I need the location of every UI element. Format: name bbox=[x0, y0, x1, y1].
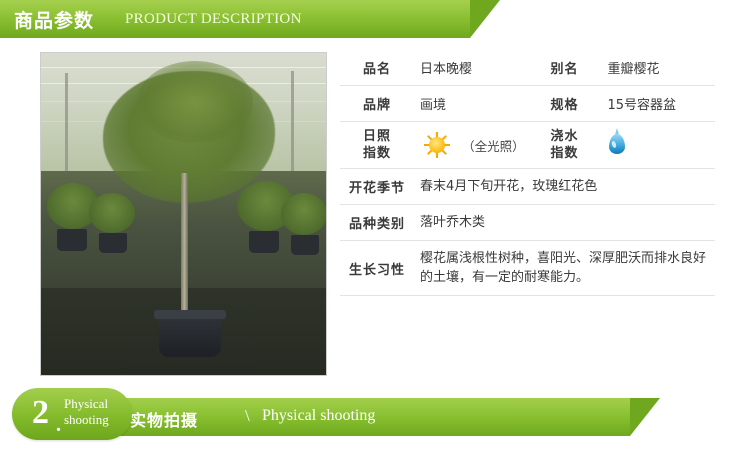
footer-title-cn: 实物拍摄 bbox=[130, 407, 198, 431]
cell-label-brand: 品牌 bbox=[340, 86, 414, 122]
header-arrow-tail bbox=[470, 0, 500, 38]
cell-value-bloom-season: 春末4月下旬开花，玫瑰红花色 bbox=[414, 169, 715, 205]
label-sunlight-line2: 指数 bbox=[346, 145, 408, 162]
page-title-cn: 商品参数 bbox=[14, 6, 94, 33]
cell-label-spec: 规格 bbox=[528, 86, 602, 122]
photo-small-pot bbox=[249, 231, 279, 253]
cell-label-watering: 浇水 指数 bbox=[528, 122, 602, 169]
photo-tree-trunk bbox=[181, 173, 188, 323]
footer-badge-line2: shooting bbox=[64, 412, 109, 428]
product-photo bbox=[40, 52, 327, 376]
photo-small-pot bbox=[291, 235, 319, 255]
footer-step-badge: 2 . Physical shooting bbox=[12, 388, 132, 440]
page-header: 商品参数 PRODUCT DESCRIPTION bbox=[0, 0, 751, 38]
cell-label-alias: 别名 bbox=[528, 50, 602, 86]
footer-section-bar: 实物拍摄 \ Physical shooting 2 . Physical sh… bbox=[0, 386, 751, 460]
cell-value-alias: 重瓣樱花 bbox=[602, 50, 716, 86]
water-drop-icon bbox=[608, 132, 626, 158]
cell-label-bloom-season: 开花季节 bbox=[340, 169, 414, 205]
table-row: 日照 指数 （全光照） 浇水 指数 bbox=[340, 122, 715, 169]
footer-step-number: 2 bbox=[32, 396, 49, 430]
label-watering-line2: 指数 bbox=[534, 145, 596, 162]
cell-value-product-name: 日本晚樱 bbox=[414, 50, 528, 86]
photo-shrub bbox=[89, 193, 135, 233]
cell-value-spec: 15号容器盆 bbox=[602, 86, 716, 122]
photo-main-pot bbox=[159, 315, 221, 357]
footer-step-dot: . bbox=[56, 414, 61, 437]
label-sunlight-line1: 日照 bbox=[346, 128, 408, 145]
footer-badge-line1: Physical bbox=[64, 396, 108, 412]
footer-title-en: Physical shooting bbox=[262, 407, 375, 425]
table-row: 品种类别 落叶乔木类 bbox=[340, 205, 715, 241]
cell-label-product-name: 品名 bbox=[340, 50, 414, 86]
table-row: 生长习性 樱花属浅根性树种，喜阳光、深厚肥沃而排水良好的土壤，有一定的耐寒能力。 bbox=[340, 241, 715, 296]
table-row: 开花季节 春末4月下旬开花，玫瑰红花色 bbox=[340, 169, 715, 205]
photo-small-pot bbox=[57, 229, 87, 251]
cell-label-sunlight: 日照 指数 bbox=[340, 122, 414, 169]
table-row: 品牌 画境 规格 15号容器盆 bbox=[340, 86, 715, 122]
photo-shrub bbox=[281, 193, 327, 235]
photo-small-pot bbox=[99, 233, 127, 253]
page-title-en: PRODUCT DESCRIPTION bbox=[125, 11, 302, 28]
spec-table: 品名 日本晚樱 别名 重瓣樱花 品牌 画境 规格 15号容器盆 日照 指数 bbox=[340, 50, 715, 296]
photo-content bbox=[41, 53, 326, 375]
footer-separator: \ bbox=[245, 406, 250, 426]
cell-value-watering bbox=[602, 122, 716, 169]
cell-value-category: 落叶乔木类 bbox=[414, 205, 715, 241]
sunlight-note: （全光照） bbox=[462, 139, 525, 154]
cell-label-growth-habit: 生长习性 bbox=[340, 241, 414, 296]
photo-tree-canopy-highlight bbox=[137, 61, 253, 143]
photo-pole bbox=[291, 71, 294, 175]
cell-label-category: 品种类别 bbox=[340, 205, 414, 241]
photo-pole bbox=[65, 73, 68, 173]
sun-icon bbox=[420, 131, 454, 159]
footer-bar-background: 实物拍摄 \ Physical shooting bbox=[110, 398, 630, 436]
cell-value-brand: 画境 bbox=[414, 86, 528, 122]
cell-value-growth-habit: 樱花属浅根性树种，喜阳光、深厚肥沃而排水良好的土壤，有一定的耐寒能力。 bbox=[414, 241, 715, 296]
label-watering-line1: 浇水 bbox=[534, 128, 596, 145]
table-row: 品名 日本晚樱 别名 重瓣樱花 bbox=[340, 50, 715, 86]
cell-value-sunlight: （全光照） bbox=[414, 122, 528, 169]
